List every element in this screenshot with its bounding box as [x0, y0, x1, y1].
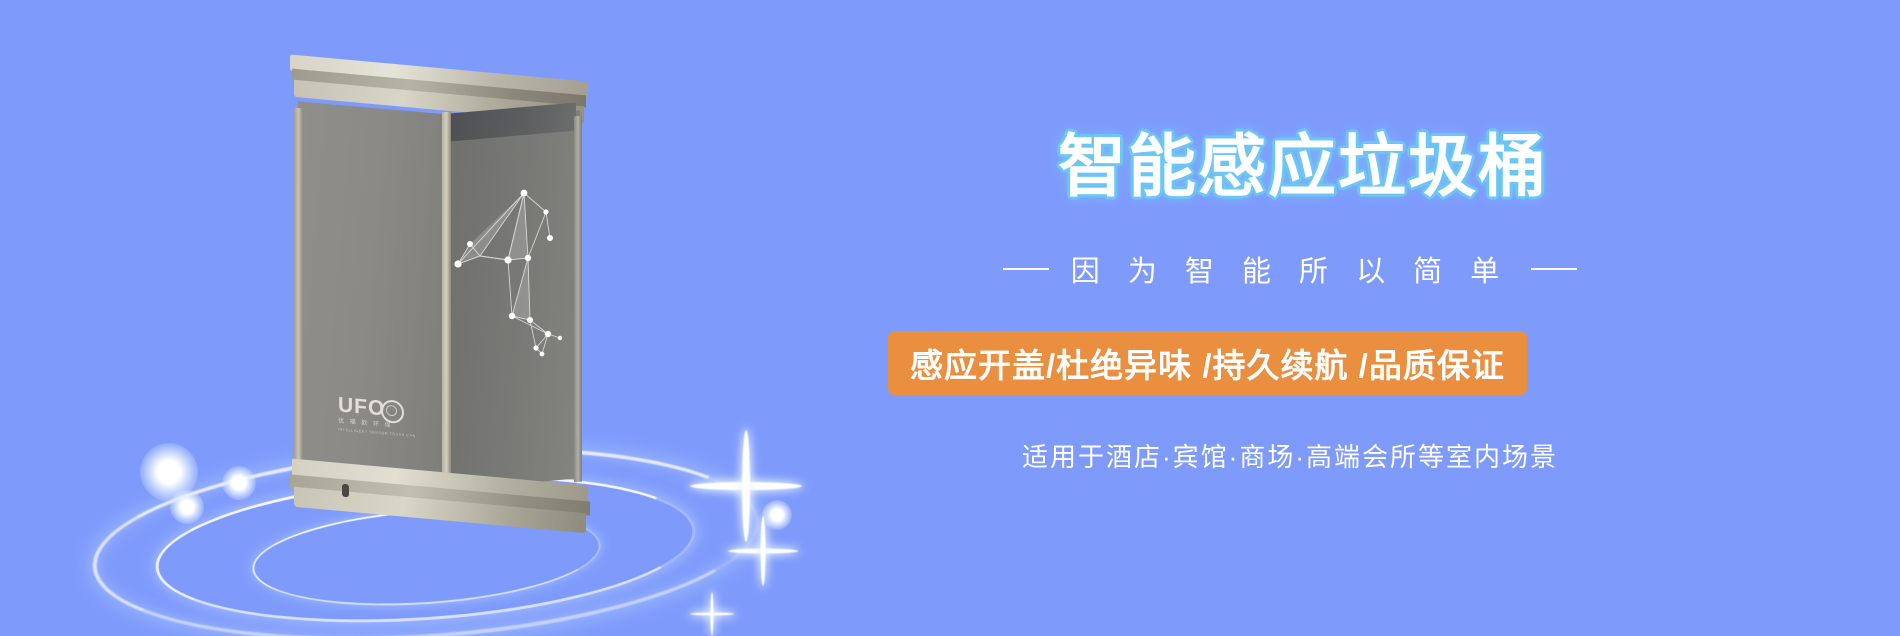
tagline-rule-left: [1003, 268, 1049, 270]
tagline-row: 因 为 智 能 所 以 简 单: [880, 248, 1700, 290]
bin-edge-left: [294, 108, 303, 481]
brand-logo: UFO 优 福 欧 环 保 INTELLIGENT SENSOR TRASH C…: [338, 394, 420, 453]
glow-dot-icon: [140, 443, 198, 501]
feature-badge-text: 感应开盖/杜绝异味 /持久续航 /品质保证: [910, 339, 1505, 387]
product-stage: UFO 优 福 欧 环 保 INTELLIGENT SENSOR TRASH C…: [0, 0, 840, 636]
bin-sensor-icon: [342, 484, 349, 498]
glow-dot-icon: [762, 500, 792, 530]
scene-line: 适用于酒店·宾馆·商场·高端会所等室内场景: [880, 437, 1700, 474]
feature-badge: 感应开盖/杜绝异味 /持久续航 /品质保证: [888, 331, 1527, 395]
product-image-smart-trash-bin: UFO 优 福 欧 环 保 INTELLIGENT SENSOR TRASH C…: [290, 68, 588, 520]
glow-dot-icon: [222, 466, 256, 500]
promo-banner: UFO 优 福 欧 环 保 INTELLIGENT SENSOR TRASH C…: [0, 0, 1900, 636]
headline: 智能感应垃圾桶: [1058, 133, 1548, 201]
sparkle-icon: [690, 430, 802, 542]
tagline-rule-right: [1531, 268, 1577, 270]
sparkle-icon: [728, 516, 798, 586]
network-graphic-icon: [450, 148, 582, 478]
tagline-text: 因 为 智 能 所 以 简 单: [1071, 248, 1509, 290]
copy-block: 智能感应垃圾桶 因 为 智 能 所 以 简 单 感应开盖/杜绝异味 /持久续航 …: [880, 0, 1700, 636]
glow-dot-icon: [170, 490, 204, 524]
sparkle-icon: [690, 592, 734, 636]
